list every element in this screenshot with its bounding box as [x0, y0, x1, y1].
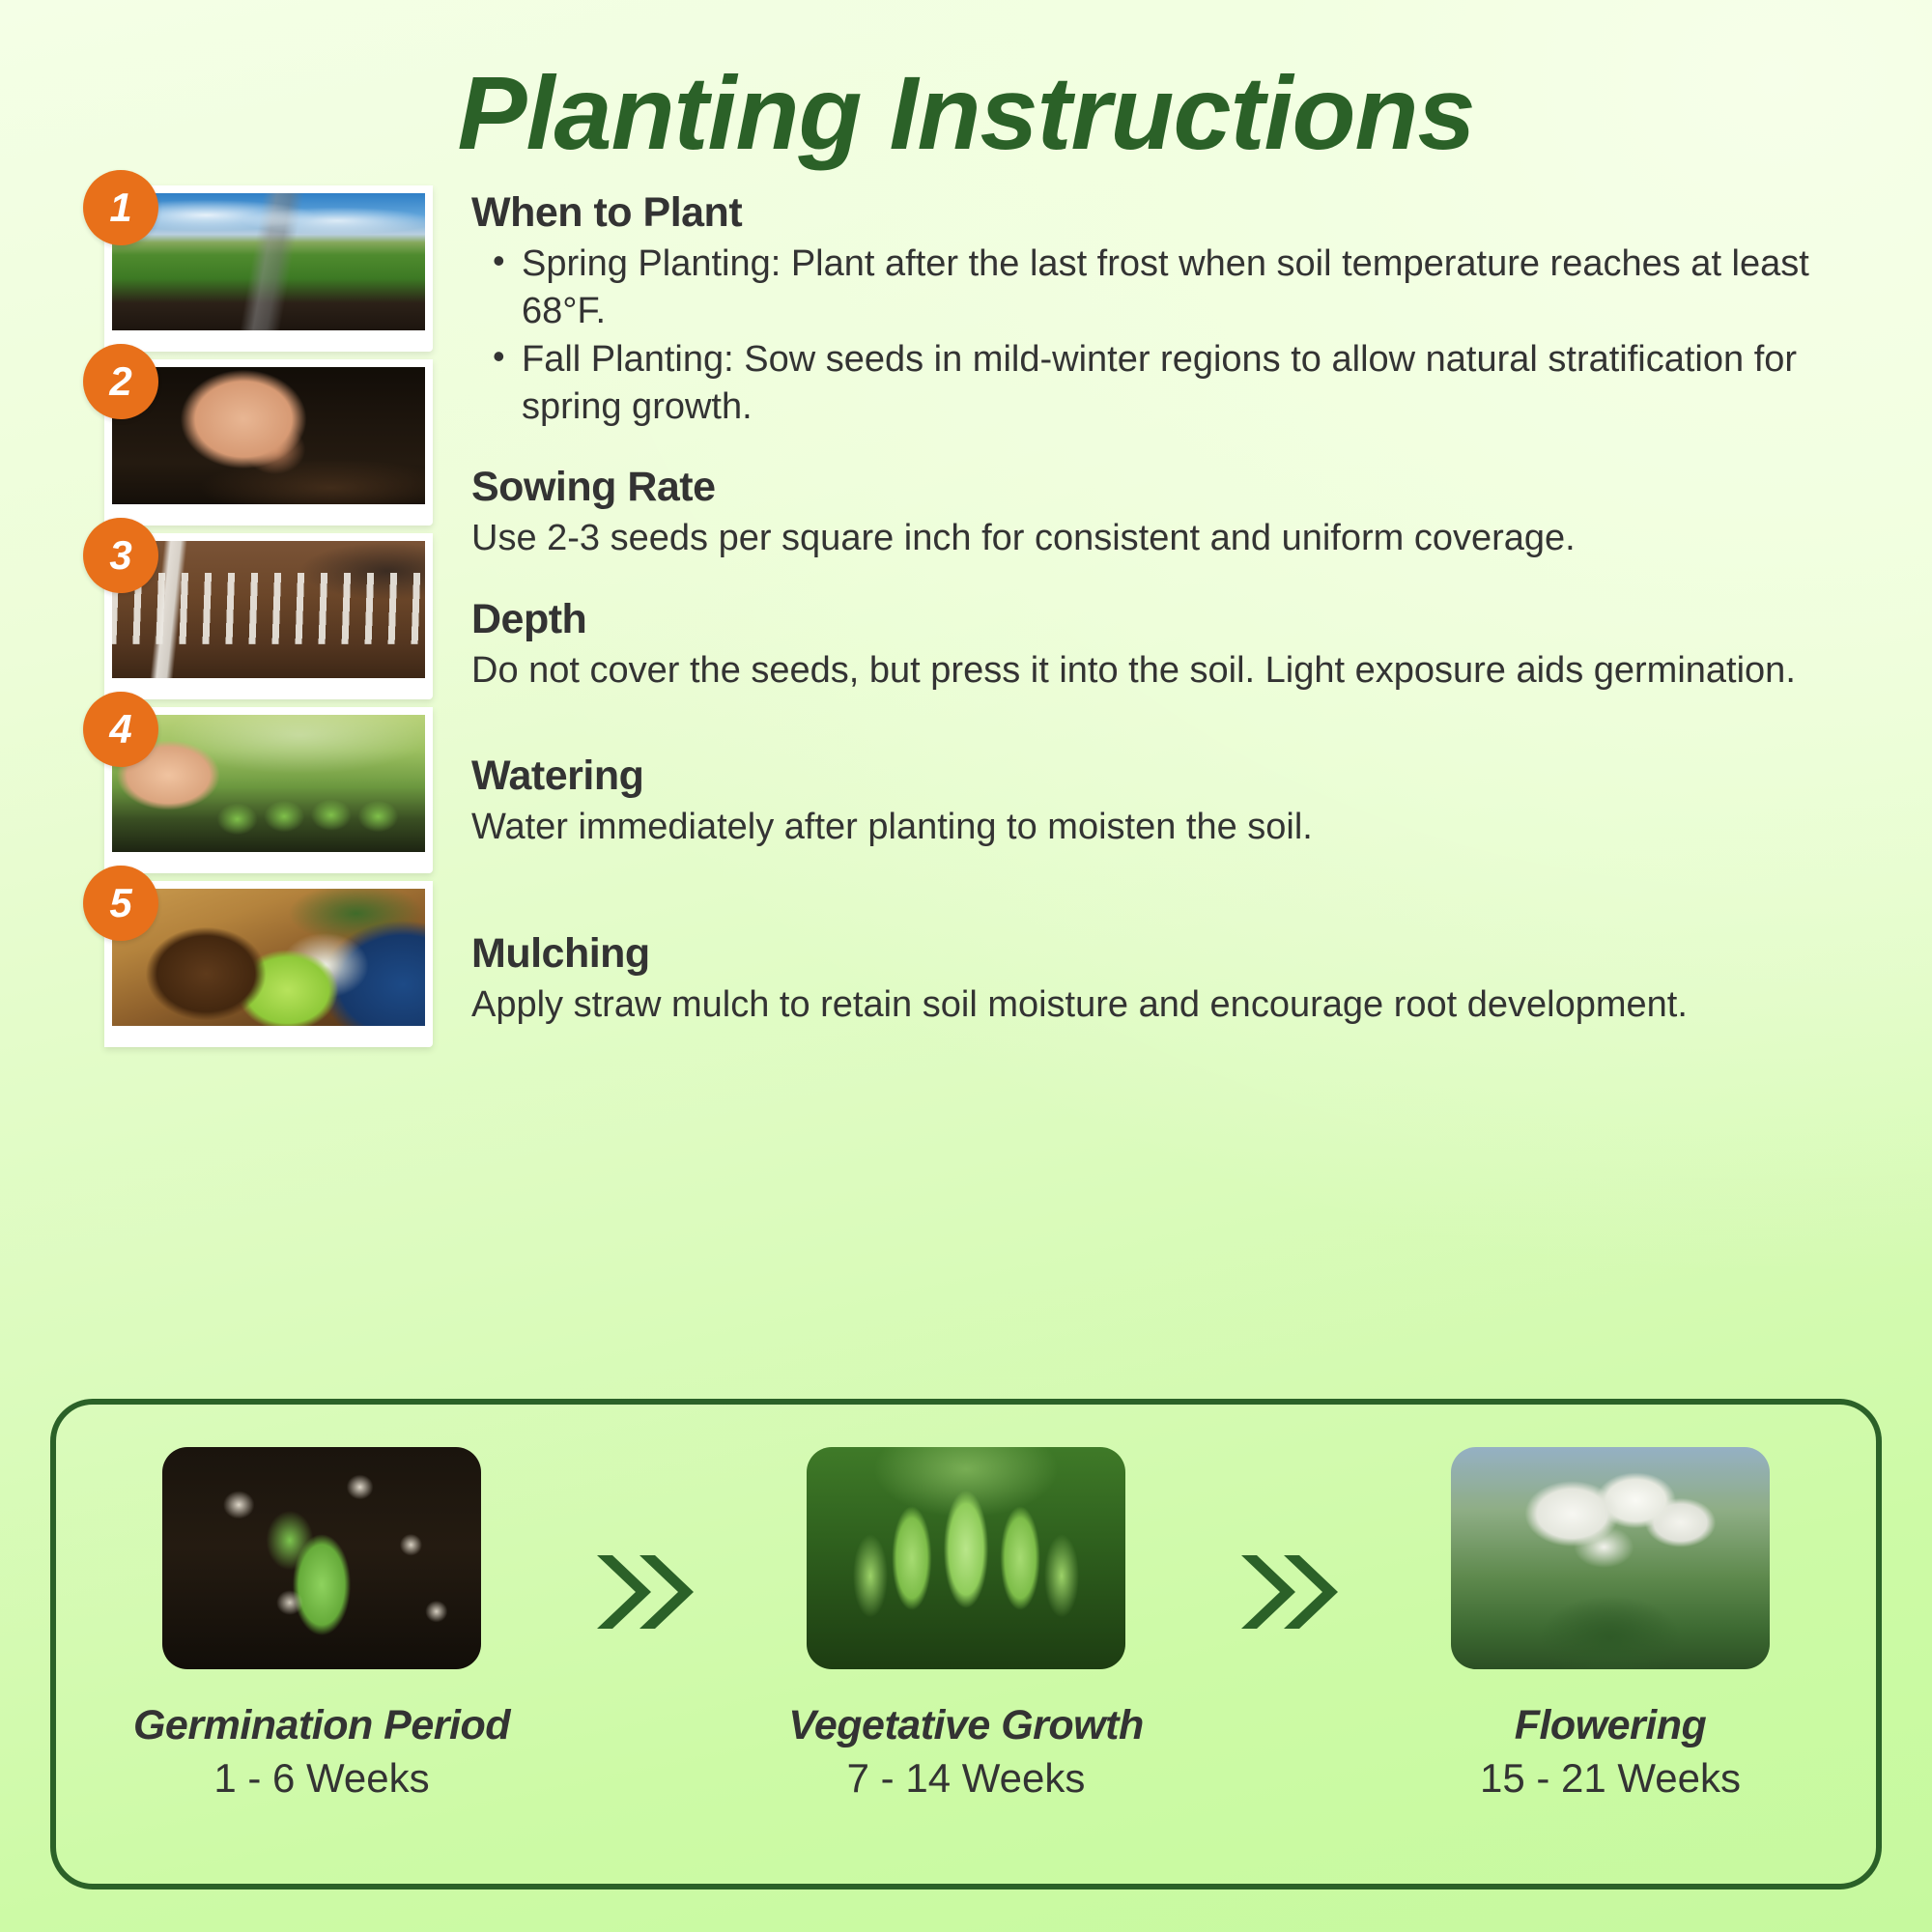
section-body: Water immediately after planting to mois…: [471, 804, 1843, 851]
mulching-gloved-hands-photo: [112, 889, 425, 1026]
timeline-stage-label: Germination Period: [133, 1702, 510, 1749]
growth-timeline-panel: Germination Period 1 - 6 Weeks Vegetativ…: [50, 1399, 1882, 1889]
step-item-3: 3: [104, 533, 433, 699]
step-number-badge-2: 2: [83, 344, 158, 419]
timeline-stage-flowering: Flowering 15 - 21 Weeks: [1403, 1447, 1818, 1802]
instructions-main: 1 2 3 4 5: [0, 185, 1932, 1209]
section-body: Use 2-3 seeds per square inch for consis…: [471, 515, 1843, 562]
section-heading: When to Plant: [471, 189, 1843, 237]
white-cleome-flower-photo: [1451, 1447, 1770, 1669]
section-sowing-rate: Sowing Rate Use 2-3 seeds per square inc…: [471, 464, 1843, 562]
step-photo-column: 1 2 3 4 5: [104, 185, 442, 1055]
step-item-1: 1: [104, 185, 433, 352]
timeline-stage-weeks: 15 - 21 Weeks: [1480, 1755, 1741, 1802]
section-watering: Watering Water immediately after plantin…: [471, 753, 1843, 851]
field-road-photo: [112, 193, 425, 330]
instructions-text-column: When to Plant Spring Planting: Plant aft…: [471, 189, 1843, 1041]
section-when-to-plant: When to Plant Spring Planting: Plant aft…: [471, 189, 1843, 431]
step-item-5: 5: [104, 881, 433, 1047]
section-heading: Watering: [471, 753, 1843, 800]
timeline-stage-vegetative: Vegetative Growth 7 - 14 Weeks: [758, 1447, 1174, 1802]
step-number-badge-3: 3: [83, 518, 158, 593]
rake-on-soil-photo: [112, 541, 425, 678]
double-chevron-right-icon: [1236, 1548, 1342, 1641]
section-heading: Sowing Rate: [471, 464, 1843, 511]
step-number-badge-5: 5: [83, 866, 158, 941]
timeline-stage-label: Vegetative Growth: [788, 1702, 1143, 1749]
list-item: Spring Planting: Plant after the last fr…: [522, 241, 1843, 334]
timeline-stage-weeks: 1 - 6 Weeks: [213, 1755, 429, 1802]
step-item-4: 4: [104, 707, 433, 873]
timeline-stage-weeks: 7 - 14 Weeks: [847, 1755, 1086, 1802]
green-leaves-photo: [807, 1447, 1125, 1669]
hand-sowing-seeds-photo: [112, 367, 425, 504]
step-number-badge-1: 1: [83, 170, 158, 245]
watering-seedlings-photo: [112, 715, 425, 852]
double-chevron-right-icon: [591, 1548, 697, 1641]
when-to-plant-bullets: Spring Planting: Plant after the last fr…: [471, 241, 1843, 431]
step-item-2: 2: [104, 359, 433, 526]
page-title: Planting Instructions: [0, 0, 1932, 166]
seedling-in-soil-photo: [162, 1447, 481, 1669]
section-body: Apply straw mulch to retain soil moistur…: [471, 981, 1843, 1029]
section-mulching: Mulching Apply straw mulch to retain soi…: [471, 930, 1843, 1029]
section-heading: Mulching: [471, 930, 1843, 978]
section-depth: Depth Do not cover the seeds, but press …: [471, 596, 1843, 695]
section-body: Do not cover the seeds, but press it int…: [471, 647, 1843, 695]
list-item: Fall Planting: Sow seeds in mild-winter …: [522, 336, 1843, 430]
timeline-stage-germination: Germination Period 1 - 6 Weeks: [114, 1447, 529, 1802]
timeline-stage-label: Flowering: [1515, 1702, 1707, 1749]
step-number-badge-4: 4: [83, 692, 158, 767]
section-heading: Depth: [471, 596, 1843, 643]
